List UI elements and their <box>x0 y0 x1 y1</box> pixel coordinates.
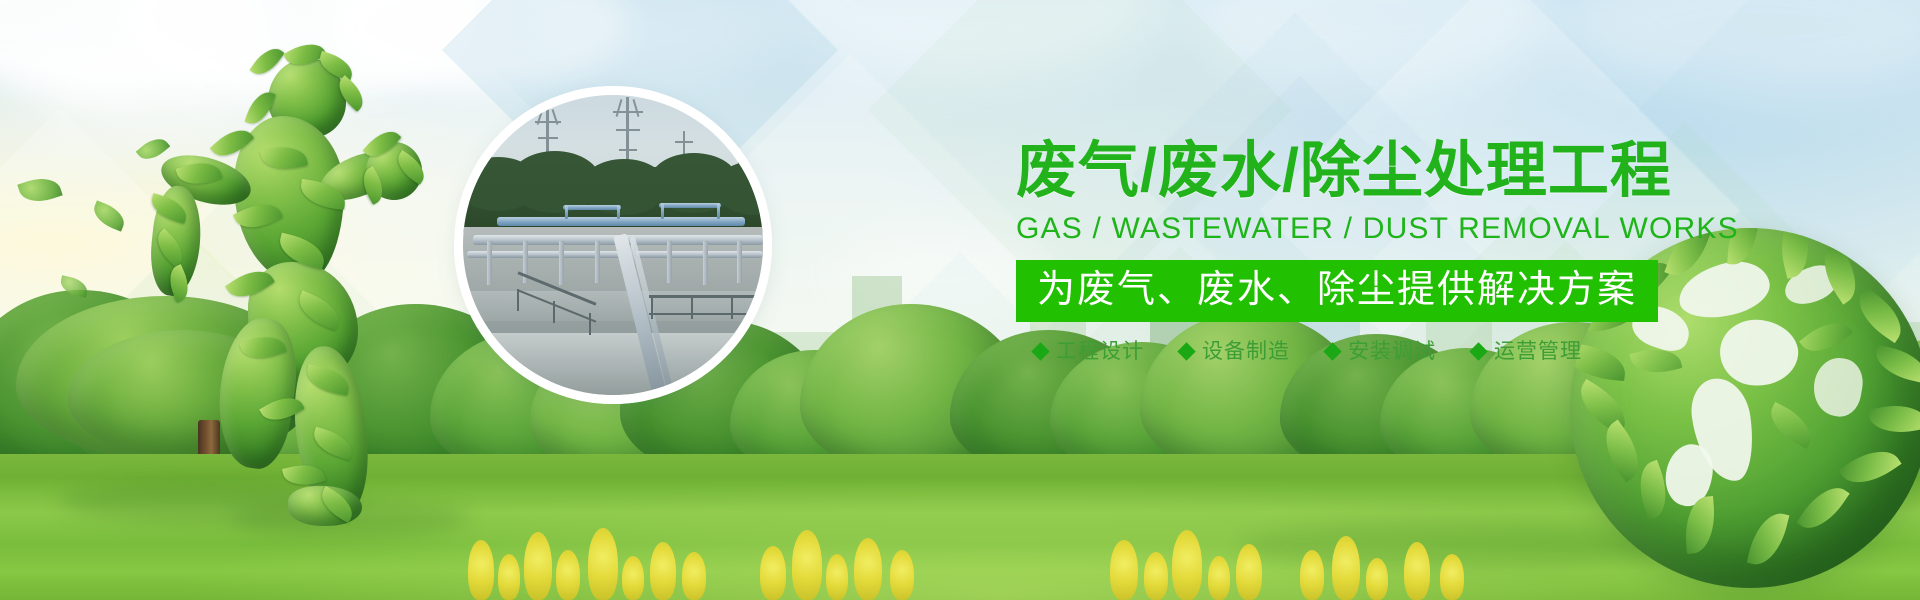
diamond-icon <box>1323 342 1341 360</box>
page-title: 废气/废水/除尘处理工程 <box>1016 140 1756 201</box>
wastewater-treatment-plant-photo <box>463 95 763 395</box>
diamond-icon <box>1177 342 1195 360</box>
feature-label: 安装调试 <box>1348 341 1436 362</box>
slogan-text: 为废气、废水、除尘提供解决方案 <box>1037 269 1637 311</box>
leaf-man-running-icon <box>150 50 450 530</box>
diamond-icon <box>1031 342 1049 360</box>
feature-item-operation-management[interactable]: 运营管理 <box>1472 341 1582 362</box>
feature-label: 运营管理 <box>1494 341 1582 362</box>
feature-item-engineering-design[interactable]: 工程设计 <box>1034 341 1144 362</box>
diamond-icon <box>1469 342 1487 360</box>
feature-item-installation-commissioning[interactable]: 安装调试 <box>1326 341 1436 362</box>
feature-label: 设备制造 <box>1202 341 1290 362</box>
slogan-bar: 为废气、废水、除尘提供解决方案 <box>1016 260 1658 322</box>
feature-list: 工程设计 设备制造 安装调试 运营管理 <box>1016 341 1756 362</box>
eco-engineering-banner: 废气/废水/除尘处理工程 GAS / WASTEWATER / DUST REM… <box>0 0 1920 600</box>
page-subtitle-english: GAS / WASTEWATER / DUST REMOVAL WORKS <box>1016 214 1756 244</box>
headline-block: 废气/废水/除尘处理工程 GAS / WASTEWATER / DUST REM… <box>1016 140 1756 362</box>
feature-item-equipment-manufacturing[interactable]: 设备制造 <box>1180 341 1290 362</box>
feature-label: 工程设计 <box>1056 341 1144 362</box>
